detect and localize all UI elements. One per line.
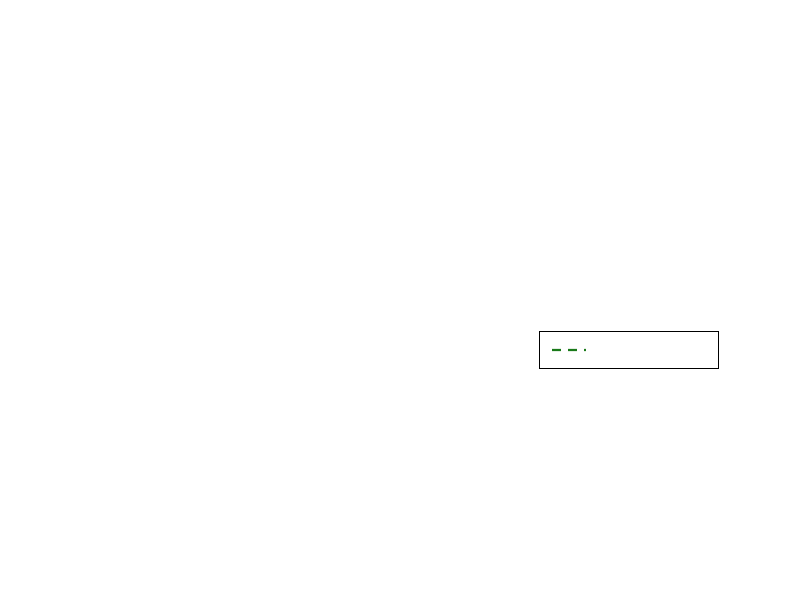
figure-canvas bbox=[0, 0, 800, 600]
legend[interactable] bbox=[539, 331, 719, 369]
differential-histogram-svg bbox=[99, 58, 724, 280]
top-panel-plot-area bbox=[99, 58, 724, 280]
mag-limit-line-icon bbox=[550, 343, 588, 357]
